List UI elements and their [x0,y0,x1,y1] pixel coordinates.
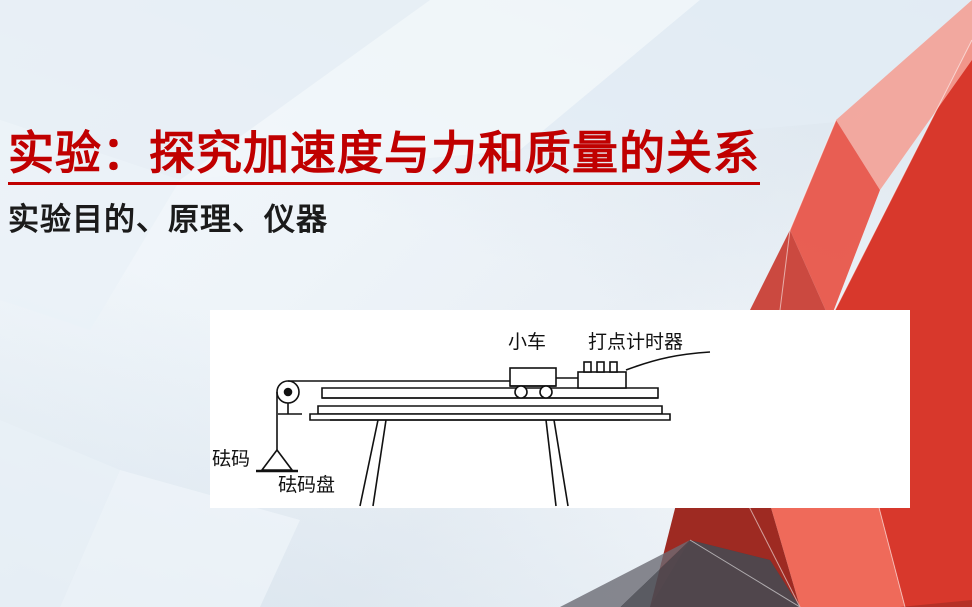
background-polygons [0,0,972,607]
apparatus-figure: 小车 打点计时器 砝码 砝码盘 [210,310,910,508]
page-title: 实验：探究加速度与力和质量的关系 [8,128,760,185]
label-cart: 小车 [508,327,546,354]
slide-root: 实验：探究加速度与力和质量的关系 实验目的、原理、仪器 [0,0,972,607]
title-block: 实验：探究加速度与力和质量的关系 实验目的、原理、仪器 [8,128,968,238]
background-decoration [0,0,972,607]
label-weight: 砝码 [212,444,250,471]
label-tray: 砝码盘 [278,470,335,497]
page-subtitle: 实验目的、原理、仪器 [8,201,968,238]
label-timer: 打点计时器 [588,327,683,354]
